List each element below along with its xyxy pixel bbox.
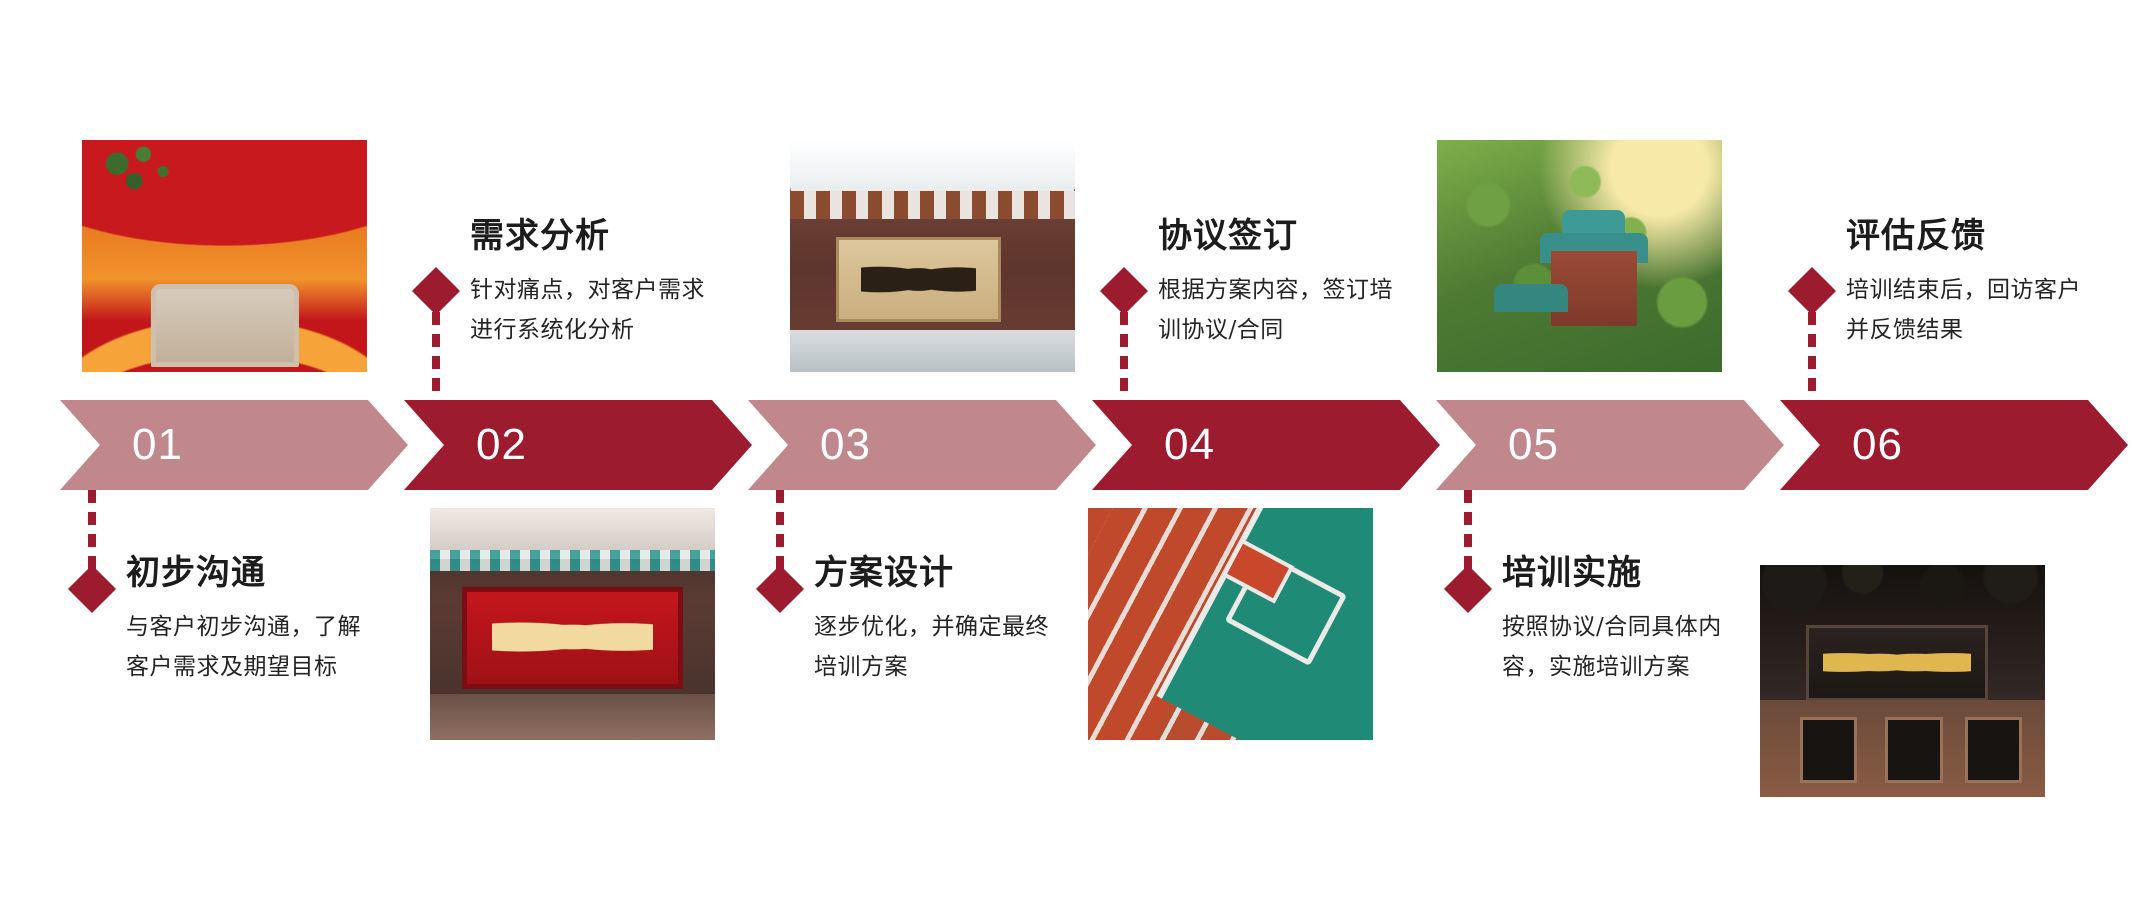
step-text-02: 需求分析 针对痛点，对客户需求进行系统化分析 xyxy=(470,208,715,350)
connector-diamond-02 xyxy=(412,267,460,315)
step-number-06: 06 xyxy=(1852,423,1903,467)
step-text-05: 培训实施 按照协议/合同具体内容，实施培训方案 xyxy=(1502,545,1750,687)
step-heading-06: 评估反馈 xyxy=(1846,208,2096,257)
step-heading-04: 协议签订 xyxy=(1158,208,1408,257)
step-body-02: 针对痛点，对客户需求进行系统化分析 xyxy=(470,271,715,350)
step-heading-02: 需求分析 xyxy=(470,208,715,257)
step-number-05: 05 xyxy=(1508,423,1559,467)
step-text-03: 方案设计 逐步优化，并确定最终培训方案 xyxy=(814,545,1064,687)
connector-diamond-04 xyxy=(1100,267,1148,315)
photo-aerial-green-campus xyxy=(1437,140,1722,372)
step-body-04: 根据方案内容，签订培训协议/合同 xyxy=(1158,271,1408,350)
connector-diamond-06 xyxy=(1788,267,1836,315)
connector-line-05 xyxy=(1464,490,1472,586)
arrow-band: 01 02 03 04 05 06 xyxy=(0,400,2131,490)
process-timeline-diagram: 01 02 03 04 05 06 xyxy=(0,0,2131,911)
step-heading-05: 培训实施 xyxy=(1502,545,1750,594)
connector-line-01 xyxy=(88,490,96,586)
step-number-04: 04 xyxy=(1164,423,1215,467)
step-arrow-04[interactable]: 04 xyxy=(1092,400,1440,490)
connector-diamond-03 xyxy=(756,565,804,613)
step-body-03: 逐步优化，并确定最终培训方案 xyxy=(814,608,1064,687)
connector-line-03 xyxy=(776,490,784,586)
step-text-06: 评估反馈 培训结束后，回访客户并反馈结果 xyxy=(1846,208,2096,350)
step-text-04: 协议签订 根据方案内容，签订培训协议/合同 xyxy=(1158,208,1408,350)
step-arrow-03[interactable]: 03 xyxy=(748,400,1096,490)
photo-snowy-plaque-gate xyxy=(790,140,1075,372)
photo-red-temple-arch xyxy=(82,140,367,372)
step-heading-01: 初步沟通 xyxy=(126,545,381,594)
step-body-05: 按照协议/合同具体内容，实施培训方案 xyxy=(1502,608,1750,687)
connector-diamond-05 xyxy=(1444,565,1492,613)
step-number-02: 02 xyxy=(476,423,527,467)
connector-diamond-01 xyxy=(68,565,116,613)
step-body-01: 与客户初步沟通，了解客户需求及期望目标 xyxy=(126,608,381,687)
photo-running-track-basketball-court xyxy=(1088,508,1373,740)
step-arrow-05[interactable]: 05 xyxy=(1436,400,1784,490)
step-arrow-02[interactable]: 02 xyxy=(404,400,752,490)
step-arrow-01[interactable]: 01 xyxy=(60,400,408,490)
step-text-01: 初步沟通 与客户初步沟通，了解客户需求及期望目标 xyxy=(126,545,381,687)
connector-line-04 xyxy=(1120,290,1128,400)
step-arrow-06[interactable]: 06 xyxy=(1780,400,2128,490)
photo-snowy-red-banner-hall xyxy=(430,508,715,740)
connector-line-06 xyxy=(1808,290,1816,400)
connector-line-02 xyxy=(432,290,440,400)
step-body-06: 培训结束后，回访客户并反馈结果 xyxy=(1846,271,2096,350)
step-number-03: 03 xyxy=(820,423,871,467)
step-heading-03: 方案设计 xyxy=(814,545,1064,594)
photo-night-gate-gold-plaque xyxy=(1760,565,2045,797)
step-number-01: 01 xyxy=(132,423,183,467)
